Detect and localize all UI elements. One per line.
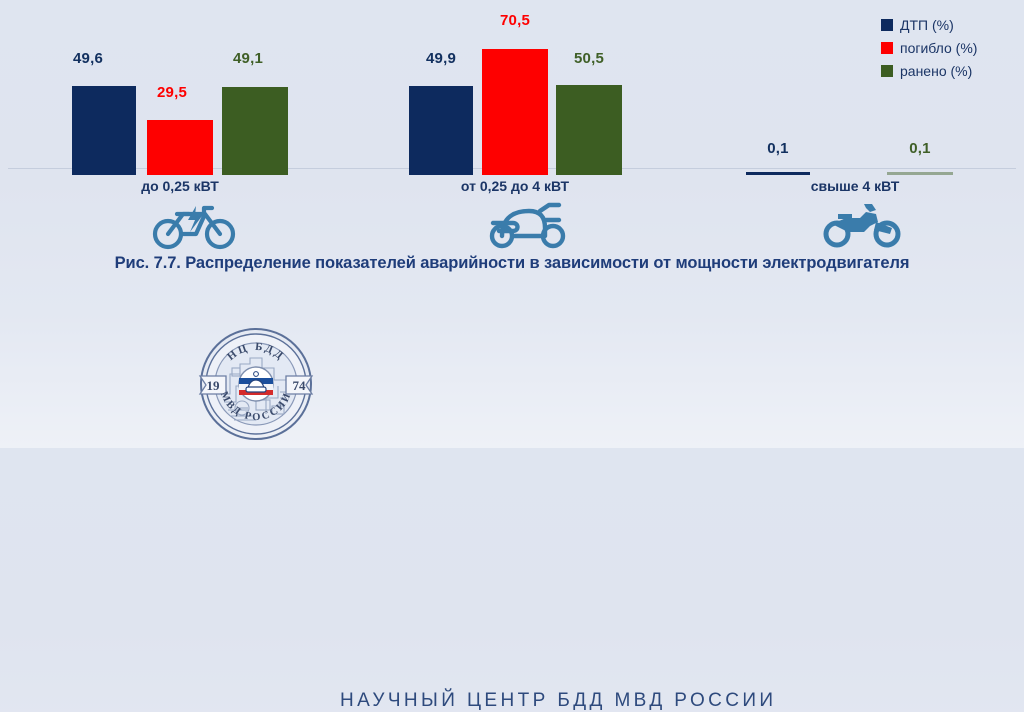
legend-swatch-raneno	[881, 65, 893, 77]
footer: 19 74 НЦ БДД МВД РОССИИ НАУЧНЫЙ ЦЕНТР БД…	[0, 322, 1024, 448]
ncbdd-emblem-logo: 19 74 НЦ БДД МВД РОССИИ	[196, 324, 316, 449]
legend-item-dtp[interactable]: ДТП (%)	[881, 13, 1021, 36]
organization-name: НАУЧНЫЙ ЦЕНТР БДД МВД РОССИИ	[340, 690, 776, 712]
category-label-1: от 0,25 до 4 кВТ	[425, 178, 605, 194]
legend-swatch-dtp	[881, 19, 893, 31]
category-label-2: свыше 4 кВТ	[770, 178, 940, 194]
bar-g3-raneno[interactable]	[887, 172, 953, 175]
bar-g2-dtp[interactable]	[409, 86, 473, 175]
legend-item-raneno[interactable]: ранено (%)	[881, 59, 1021, 82]
figure-caption: Рис. 7.7. Распределение показателей авар…	[0, 254, 1024, 273]
chart-slide: 49,6 29,5 49,1 49,9 70,5 50,5 0,1 0,1 до…	[0, 0, 1024, 448]
bar-value-label-g1-dtp: 49,6	[56, 50, 120, 67]
legend-label-dtp: ДТП (%)	[900, 17, 954, 33]
bar-value-label-g1-raneno: 49,1	[215, 50, 281, 67]
bar-value-label-g1-pogiblo: 29,5	[139, 84, 205, 101]
logo-year-left: 19	[207, 378, 221, 393]
bar-g2-pogiblo[interactable]	[482, 49, 548, 175]
chart-legend: ДТП (%) погибло (%) ранено (%)	[881, 13, 1021, 82]
electric-bicycle-icon	[152, 198, 236, 255]
bar-g1-pogiblo[interactable]	[147, 120, 213, 175]
bar-chart-plot-area: 49,6 29,5 49,1 49,9 70,5 50,5 0,1 0,1 до…	[0, 0, 1024, 175]
bar-g1-raneno[interactable]	[222, 87, 288, 175]
bar-value-label-g2-dtp: 49,9	[409, 50, 473, 67]
bar-value-label-g3-raneno: 0,1	[887, 140, 953, 157]
legend-item-pogiblo[interactable]: погибло (%)	[881, 36, 1021, 59]
legend-label-raneno: ранено (%)	[900, 63, 972, 79]
bar-g3-dtp[interactable]	[746, 172, 810, 175]
motorcycle-icon	[820, 198, 904, 255]
bar-g1-dtp[interactable]	[72, 86, 136, 175]
bar-value-label-g2-pogiblo: 70,5	[482, 12, 548, 29]
legend-label-pogiblo: погибло (%)	[900, 40, 977, 56]
electric-scooter-icon	[483, 198, 573, 255]
logo-year-right: 74	[293, 378, 307, 393]
bar-value-label-g2-raneno: 50,5	[556, 50, 622, 67]
bar-value-label-g3-dtp: 0,1	[746, 140, 810, 157]
bar-g2-raneno[interactable]	[556, 85, 622, 175]
legend-swatch-pogiblo	[881, 42, 893, 54]
category-label-0: до 0,25 кВТ	[100, 178, 260, 194]
